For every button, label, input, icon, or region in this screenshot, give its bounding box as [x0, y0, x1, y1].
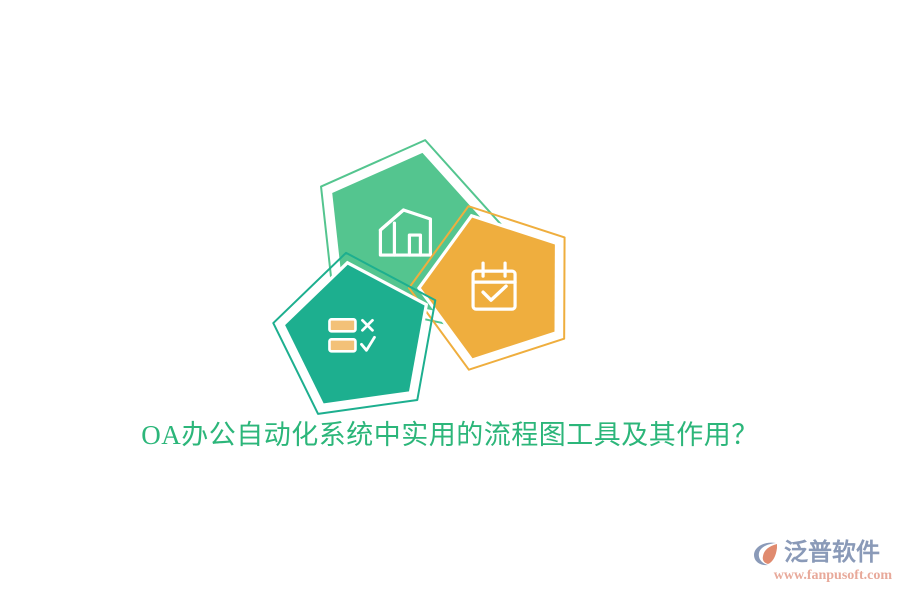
checklist-bar — [329, 339, 355, 351]
brand-url: www.fanpusoft.com — [752, 568, 892, 584]
brand-watermark: 泛普软件 www.fanpusoft.com — [752, 538, 892, 590]
checklist-bar — [329, 319, 355, 331]
page-root: OA办公自动化系统中实用的流程图工具及其作用？ 泛普软件 www.fanpuso… — [0, 0, 900, 600]
page-title: OA办公自动化系统中实用的流程图工具及其作用？ — [0, 413, 900, 452]
brand-row: 泛普软件 — [752, 538, 892, 568]
hero-illustration — [280, 130, 580, 410]
brand-name: 泛普软件 — [784, 539, 880, 567]
fanpu-logo-icon — [752, 539, 780, 567]
